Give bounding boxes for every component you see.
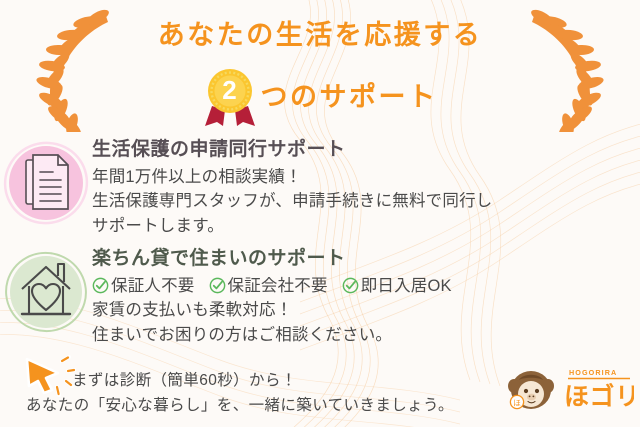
support-1-line-1: 年間1万件以上の相談実績！ xyxy=(92,165,640,189)
support-1-line-3: サポートします。 xyxy=(92,214,640,238)
check-circle-icon xyxy=(209,277,226,294)
brand-name: ほゴリラ xyxy=(564,382,634,411)
check-item-1: 保証人不要 xyxy=(92,274,195,298)
support-1-title: 生活保護の申請同行サポート xyxy=(92,138,640,162)
support-2-icon-wrap xyxy=(0,242,92,342)
support-1-body: 生活保護の申請同行サポート 年間1万件以上の相談実績！ 生活保護専門スタッフが、… xyxy=(92,133,640,238)
count-number: 2 xyxy=(203,68,257,114)
house-heart-icon xyxy=(0,242,92,342)
brand-logo: ほ HOGORIRA ほゴリラ xyxy=(506,364,634,414)
check-label-2: 保証会社不要 xyxy=(228,274,328,298)
support-2-title: 楽ちん貸で住まいのサポート xyxy=(92,247,640,271)
footer: まずは診断（簡単60秒）から！ あなたの「安心な暮らし」を、一緒に築いていきまし… xyxy=(0,352,640,427)
support-item-1: 生活保護の申請同行サポート 年間1万件以上の相談実績！ 生活保護専門スタッフが、… xyxy=(0,133,640,238)
header: あなたの生活を応援する 2 つのサポート xyxy=(0,0,640,132)
support-list: 生活保護の申請同行サポート 年間1万件以上の相談実績！ 生活保護専門スタッフが、… xyxy=(0,133,640,347)
documents-icon xyxy=(0,133,92,233)
count-medal-badge: 2 xyxy=(203,68,257,126)
footer-line-2: あなたの「安心な暮らし」を、一緒に築いていきましょう。 xyxy=(26,393,454,415)
support-2-line-1: 家賃の支払いも柔軟対応！ xyxy=(92,298,640,322)
check-circle-icon xyxy=(342,277,359,294)
subline-row: 2 つのサポート xyxy=(0,68,640,126)
check-label-3: 即日入居OK xyxy=(361,274,452,298)
check-label-1: 保証人不要 xyxy=(111,274,195,298)
support-1-line-2: 生活保護専門スタッフが、申請手続きに無料で同行し xyxy=(92,189,640,213)
check-circle-icon xyxy=(92,277,109,294)
gorilla-mascot-icon: ほ xyxy=(508,371,554,409)
footer-line-1: まずは診断（簡単60秒）から！ xyxy=(72,368,297,390)
support-item-2: 楽ちん貸で住まいのサポート 保証人不要 保証 xyxy=(0,242,640,347)
subline: つのサポート xyxy=(261,84,438,111)
headline: あなたの生活を応援する xyxy=(0,22,640,49)
promo-poster: あなたの生活を応援する 2 つのサポート xyxy=(0,0,640,427)
support-2-check-row: 保証人不要 保証会社不要 即日入居OK xyxy=(92,274,640,298)
support-2-line-2: 住まいでお困りの方はご相談ください。 xyxy=(92,323,640,347)
check-item-3: 即日入居OK xyxy=(342,274,452,298)
svg-text:ほ: ほ xyxy=(513,398,521,407)
click-cursor-icon xyxy=(24,355,76,397)
brand-romaji: HOGORIRA xyxy=(569,368,617,377)
check-item-2: 保証会社不要 xyxy=(209,274,328,298)
support-1-icon-wrap xyxy=(0,133,92,233)
support-2-body: 楽ちん貸で住まいのサポート 保証人不要 保証 xyxy=(92,242,640,347)
